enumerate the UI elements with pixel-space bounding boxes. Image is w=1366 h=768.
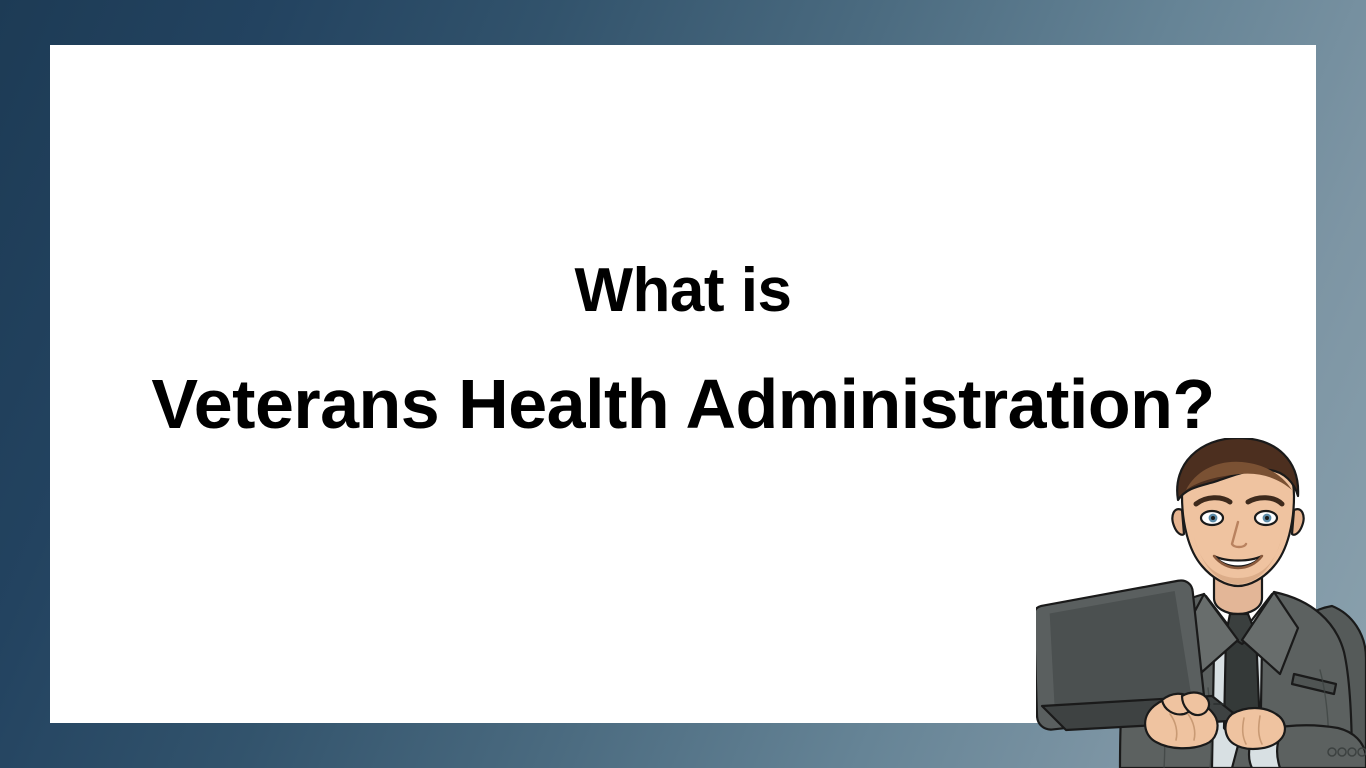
title-line-2: Veterans Health Administration?: [50, 364, 1316, 445]
slide-title-block: What is Veterans Health Administration?: [50, 255, 1316, 445]
title-line-1: What is: [50, 255, 1316, 326]
